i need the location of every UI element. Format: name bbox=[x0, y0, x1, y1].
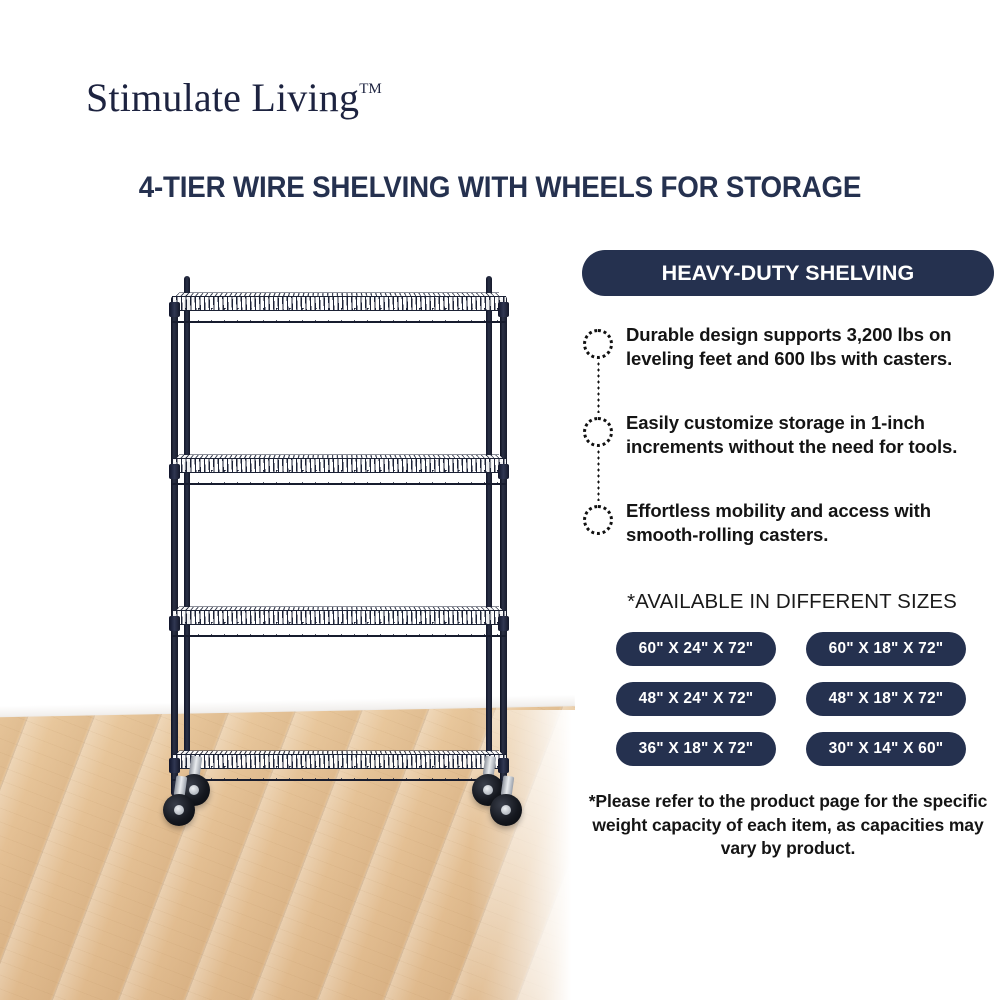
shelf-collar-2-right bbox=[498, 464, 509, 479]
section-banner-label: HEAVY-DUTY SHELVING bbox=[662, 261, 915, 286]
size-grid: 60" X 24" X 72" 60" X 18" X 72" 48" X 24… bbox=[616, 632, 976, 766]
sizes-heading: *AVAILABLE IN DIFFERENT SIZES bbox=[570, 590, 990, 614]
shelf-tier-1-truss bbox=[172, 308, 506, 322]
shelf-tier-2-truss bbox=[172, 470, 506, 484]
shelf-collar-3-left bbox=[169, 616, 180, 631]
shelf-post-back-right bbox=[486, 276, 492, 768]
feature-text: Easily customize storage in 1-inch incre… bbox=[626, 408, 990, 460]
feature-text: Effortless mobility and access with smoo… bbox=[626, 496, 990, 548]
feature-item: Easily customize storage in 1-inch incre… bbox=[570, 408, 990, 486]
caster-hub-icon bbox=[501, 805, 511, 815]
shelf-tier-3 bbox=[172, 610, 506, 636]
shelf-tier-2-edge bbox=[172, 483, 506, 485]
shelf-tier-2 bbox=[172, 458, 506, 484]
product-photo bbox=[0, 240, 575, 1000]
feature-marker bbox=[570, 496, 626, 535]
shelf-tier-1-edge bbox=[172, 321, 506, 323]
size-pill[interactable]: 48" X 24" X 72" bbox=[616, 682, 776, 716]
caster-hub-icon bbox=[174, 805, 184, 815]
shelf-tier-3-edge bbox=[172, 635, 506, 637]
dotted-circle-icon bbox=[583, 505, 613, 535]
shelf-tier-4-truss bbox=[172, 766, 506, 780]
shelf-tier-4-edge bbox=[172, 779, 506, 781]
dotted-connector-icon bbox=[597, 449, 600, 501]
section-banner: HEAVY-DUTY SHELVING bbox=[582, 250, 994, 296]
shelf-collar-3-right bbox=[498, 616, 509, 631]
wire-shelving-unit bbox=[160, 258, 520, 848]
brand-logo-text: Stimulate Living bbox=[86, 75, 359, 120]
size-pill[interactable]: 36" X 18" X 72" bbox=[616, 732, 776, 766]
size-pill[interactable]: 30" X 14" X 60" bbox=[806, 732, 966, 766]
caster-front-left bbox=[163, 786, 197, 820]
shelf-collar-2-left bbox=[169, 464, 180, 479]
brand-logo: Stimulate LivingTM bbox=[86, 74, 382, 121]
size-pill[interactable]: 60" X 24" X 72" bbox=[616, 632, 776, 666]
shelf-post-front-left bbox=[171, 296, 178, 796]
size-pill[interactable]: 60" X 18" X 72" bbox=[806, 632, 966, 666]
dotted-circle-icon bbox=[583, 417, 613, 447]
info-panel: HEAVY-DUTY SHELVING Durable design suppo… bbox=[570, 250, 990, 861]
size-pill[interactable]: 48" X 18" X 72" bbox=[806, 682, 966, 716]
disclaimer-text: *Please refer to the product page for th… bbox=[588, 790, 988, 861]
page-title: 4-TIER WIRE SHELVING WITH WHEELS FOR STO… bbox=[30, 171, 970, 205]
shelf-collar-1-right bbox=[498, 302, 509, 317]
shelf-post-front-right bbox=[500, 296, 507, 796]
feature-marker bbox=[570, 320, 626, 359]
feature-item: Durable design supports 3,200 lbs on lev… bbox=[570, 320, 990, 398]
shelf-tier-3-truss bbox=[172, 622, 506, 636]
feature-list: Durable design supports 3,200 lbs on lev… bbox=[570, 320, 990, 574]
caster-front-right bbox=[490, 786, 524, 820]
shelf-tier-1 bbox=[172, 296, 506, 322]
dotted-circle-icon bbox=[583, 329, 613, 359]
shelf-collar-1-left bbox=[169, 302, 180, 317]
feature-text: Durable design supports 3,200 lbs on lev… bbox=[626, 320, 990, 372]
feature-item: Effortless mobility and access with smoo… bbox=[570, 496, 990, 574]
shelf-tier-4 bbox=[172, 754, 506, 780]
dotted-connector-icon bbox=[597, 361, 600, 413]
trademark-symbol: TM bbox=[359, 81, 382, 97]
shelf-post-back-left bbox=[184, 276, 190, 768]
feature-marker bbox=[570, 408, 626, 447]
